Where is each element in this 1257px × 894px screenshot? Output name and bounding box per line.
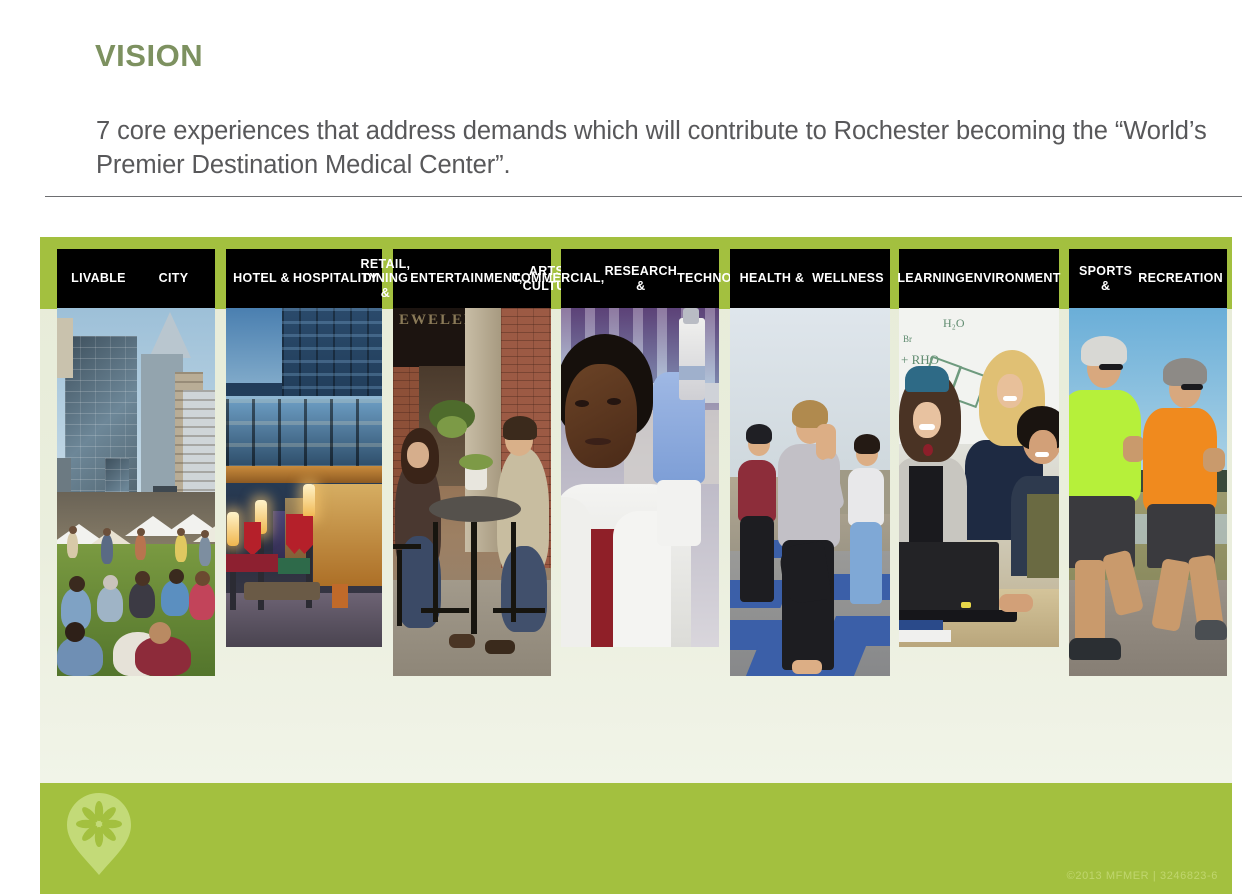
column-header-hotel-hospitality: HOTEL & HOSPITALITY <box>226 249 382 308</box>
experiences-panel: LIVABLE CITY <box>40 237 1232 783</box>
photo-livable-city <box>57 308 215 676</box>
copyright-text: ©2013 MFMER | 3246823-6 <box>1067 870 1218 882</box>
column-header-sports-recreation: SPORTS & RECREATION <box>1069 249 1227 308</box>
slide-subtitle: 7 core experiences that address demands … <box>96 114 1226 182</box>
photo-hotel-hospitality <box>226 308 382 647</box>
experience-column-sports-recreation[interactable]: SPORTS & RECREATION <box>1069 249 1227 676</box>
experience-column-livable-city[interactable]: LIVABLE CITY <box>57 249 215 676</box>
footer-bar: ©2013 MFMER | 3246823-6 <box>40 783 1232 894</box>
experience-column-learning-environment[interactable]: LEARNING ENVIRONMENT Br + RHO H₂O <box>899 249 1059 647</box>
photo-sports-recreation <box>1069 308 1227 676</box>
column-header-research-technology: COMMERCIAL, RESEARCH & TECHNOLOGY <box>561 249 719 308</box>
experience-column-health-wellness[interactable]: HEALTH & WELLNESS <box>730 249 890 676</box>
column-header-livable-city: LIVABLE CITY <box>57 249 215 308</box>
photo-learning-environment: Br + RHO H₂O <box>899 308 1059 647</box>
photo-research-technology <box>561 308 719 647</box>
column-header-health-wellness: HEALTH & WELLNESS <box>730 249 890 308</box>
experience-column-hotel-hospitality[interactable]: HOTEL & HOSPITALITY <box>226 249 382 647</box>
column-header-learning-environment: LEARNING ENVIRONMENT <box>899 249 1059 308</box>
experience-column-retail-dining[interactable]: RETAIL, DINING & ENTERTAINMENT, ARTS & C… <box>393 249 551 676</box>
page-title: VISION <box>95 38 203 74</box>
destination-medical-center-pin-icon <box>66 793 132 875</box>
experience-column-research-technology[interactable]: COMMERCIAL, RESEARCH & TECHNOLOGY <box>561 249 719 647</box>
header-divider <box>45 196 1242 197</box>
photo-retail-dining: EWELER <box>393 308 551 676</box>
photo-health-wellness <box>730 308 890 676</box>
experience-columns: LIVABLE CITY <box>40 237 1232 783</box>
